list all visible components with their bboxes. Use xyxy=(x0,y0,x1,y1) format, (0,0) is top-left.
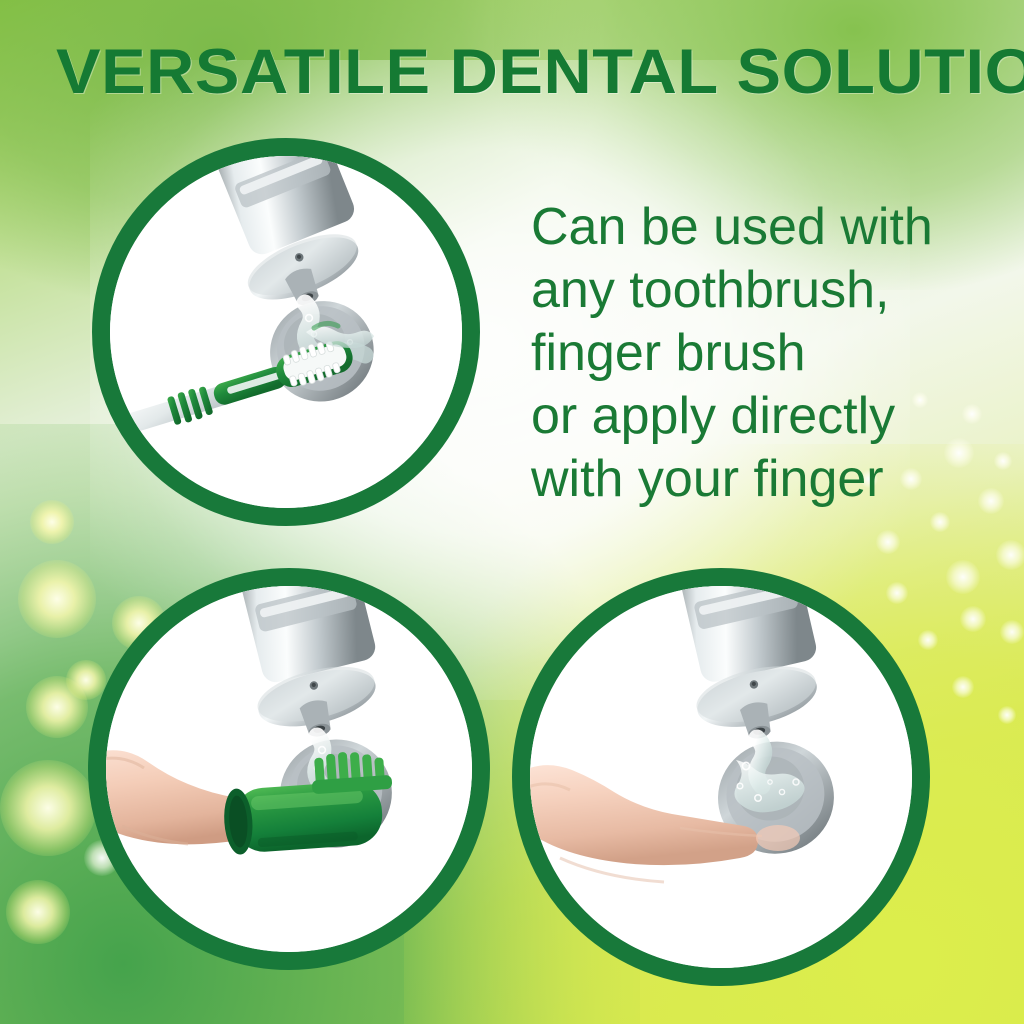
photo-circle-finger-brush xyxy=(88,568,490,970)
toothbrush-photo xyxy=(110,156,462,508)
description-line: any toothbrush, xyxy=(531,259,951,322)
description-text: Can be used with any toothbrush, finger … xyxy=(531,196,951,511)
photo-circle-toothbrush xyxy=(92,138,480,526)
description-line: with your finger xyxy=(531,448,951,511)
description-line: finger brush xyxy=(531,322,951,385)
page-title: VERSATILE DENTAL SOLUTION xyxy=(56,36,1024,108)
finger-brush-photo xyxy=(106,586,472,952)
bare-finger-photo xyxy=(530,586,912,968)
description-line: Can be used with xyxy=(531,196,951,259)
description-line: or apply directly xyxy=(531,385,951,448)
infographic-canvas: VERSATILE DENTAL SOLUTION Can be used wi… xyxy=(0,0,1024,1024)
photo-circle-bare-finger xyxy=(512,568,930,986)
